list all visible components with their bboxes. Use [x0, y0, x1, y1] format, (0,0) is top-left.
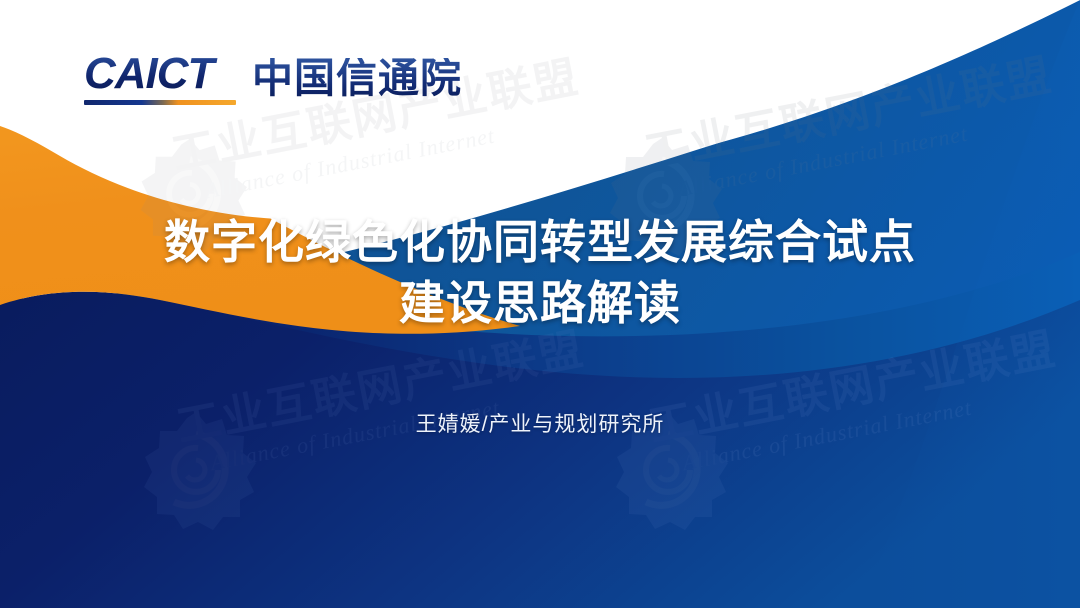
author-affiliation: 王婧媛/产业与规划研究所: [0, 408, 1080, 438]
caict-logo-mark: CAICT: [84, 52, 236, 105]
caict-acronym: CAICT: [84, 52, 236, 96]
caict-chinese-name: 中国信通院: [252, 58, 462, 105]
author-text: 王婧媛/产业与规划研究所: [416, 413, 665, 436]
title-line-1: 数字化绿色化协同转型发展综合试点: [60, 212, 1020, 273]
logo-underline-rule: [84, 100, 236, 105]
title-line-2: 建设思路解读: [60, 273, 1020, 334]
caict-logo: CAICT 中国信通院: [84, 52, 462, 105]
page-title: 数字化绿色化协同转型发展综合试点 建设思路解读: [0, 212, 1080, 333]
presentation-title-slide: 工业互联网产业联盟 Alliance of Industrial Interne…: [0, 0, 1080, 608]
